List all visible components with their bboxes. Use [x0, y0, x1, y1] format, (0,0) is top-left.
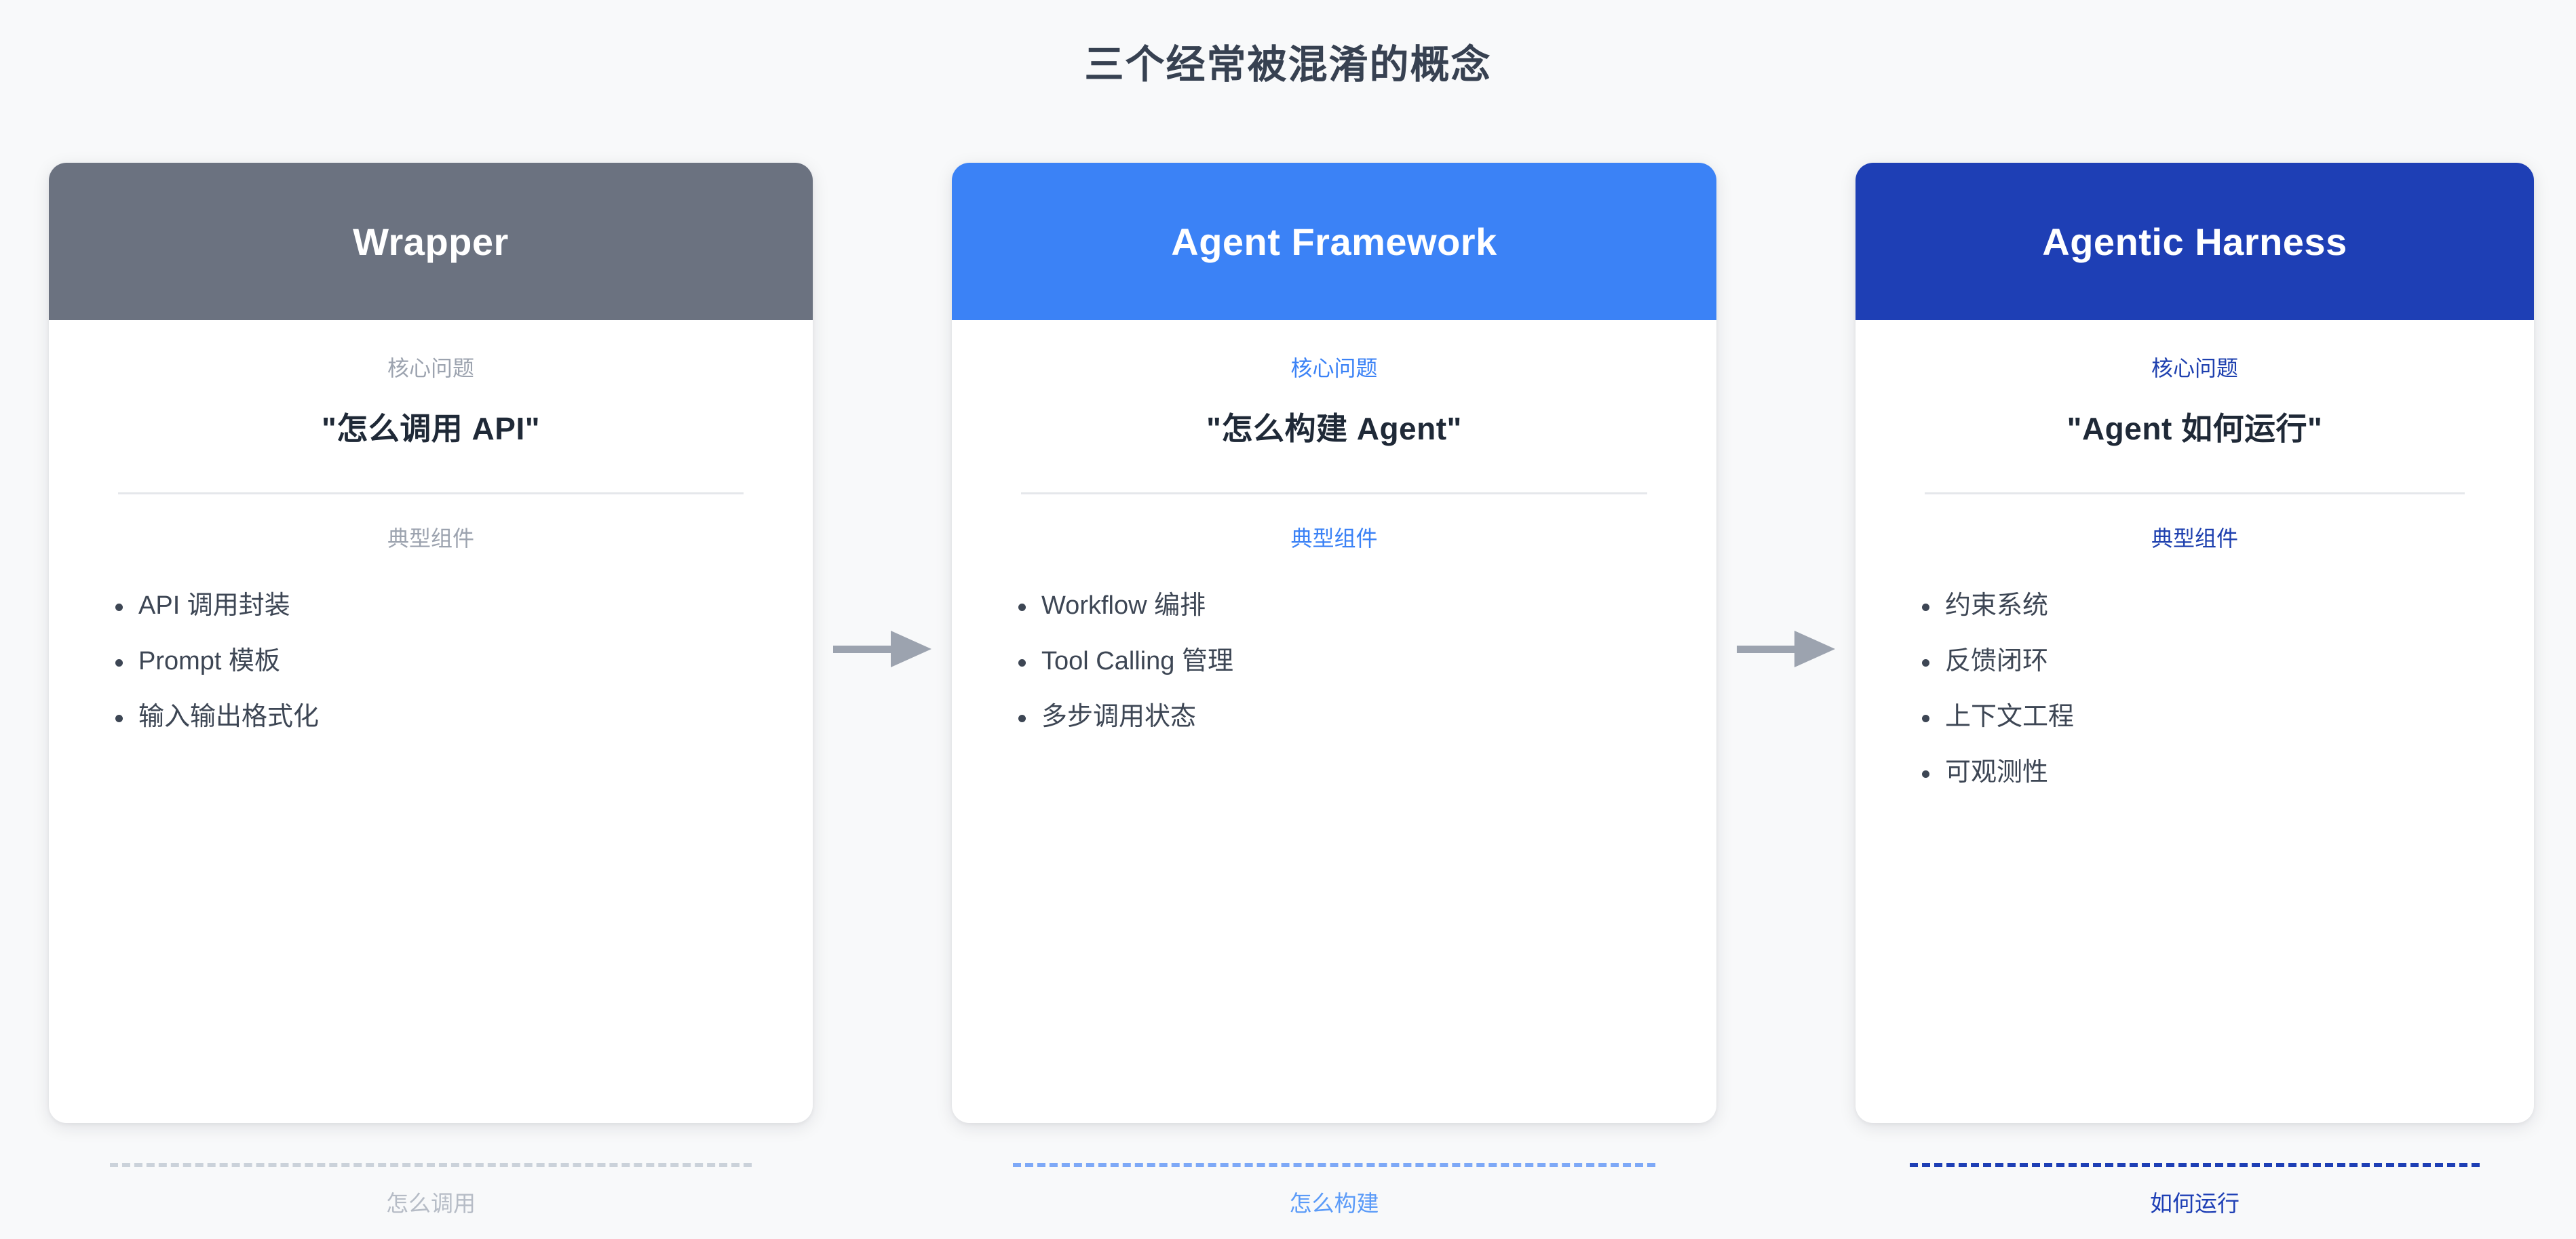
- dashed-connector: [1013, 1163, 1655, 1167]
- list-item: 上下文工程: [1922, 704, 2482, 730]
- list-item: 可观测性: [1922, 760, 2482, 785]
- footer-label: 怎么构建: [1290, 1185, 1379, 1218]
- card-body-wrapper: 核心问题 "怎么调用 API" 典型组件 API 调用封装 Prompt 模板 …: [49, 320, 813, 1123]
- components-label: 典型组件: [1907, 526, 2482, 551]
- card-header-agent-framework: Agent Framework: [952, 163, 1716, 320]
- components-label: 典型组件: [1003, 526, 1665, 551]
- card-column-agentic-harness: Agentic Harness 核心问题 "Agent 如何运行" 典型组件 约…: [1856, 163, 2534, 1123]
- concept-card-wrapper[interactable]: Wrapper 核心问题 "怎么调用 API" 典型组件 API 调用封装 Pr…: [49, 163, 813, 1123]
- core-question-label: 核心问题: [1003, 355, 1665, 381]
- components-label: 典型组件: [100, 526, 761, 551]
- core-question-text: "怎么构建 Agent": [1003, 404, 1665, 449]
- core-question-text: "怎么调用 API": [100, 404, 761, 449]
- core-question-label: 核心问题: [100, 355, 761, 381]
- core-question-label: 核心问题: [1907, 355, 2482, 381]
- footer-agentic-harness: 如何运行: [1856, 1163, 2534, 1218]
- list-item: Tool Calling 管理: [1018, 648, 1665, 674]
- footer-wrapper: 怎么调用: [49, 1163, 813, 1218]
- footer-agent-framework: 怎么构建: [952, 1163, 1716, 1218]
- list-item: API 调用封装: [115, 593, 761, 618]
- arrow-head: [1794, 631, 1835, 667]
- list-item: Workflow 编排: [1018, 593, 1665, 618]
- list-item: 输入输出格式化: [115, 704, 761, 730]
- arrow-right-icon: [1737, 631, 1835, 667]
- components-list: 约束系统 反馈闭环 上下文工程 可观测性: [1907, 593, 2482, 815]
- arrow-column-2: [1716, 163, 1856, 1123]
- list-item: 约束系统: [1922, 593, 2482, 618]
- list-item: 多步调用状态: [1018, 704, 1665, 730]
- list-item: Prompt 模板: [115, 648, 761, 674]
- card-body-agentic-harness: 核心问题 "Agent 如何运行" 典型组件 约束系统 反馈闭环 上下文工程 可…: [1856, 320, 2534, 1123]
- card-column-wrapper: Wrapper 核心问题 "怎么调用 API" 典型组件 API 调用封装 Pr…: [49, 163, 813, 1123]
- concept-cards-board: Wrapper 核心问题 "怎么调用 API" 典型组件 API 调用封装 Pr…: [49, 163, 2534, 1123]
- dashed-connector: [1910, 1163, 2480, 1167]
- card-divider: [1925, 492, 2465, 494]
- dashed-connector: [110, 1163, 752, 1167]
- arrow-right-icon: [833, 631, 931, 667]
- card-header-agentic-harness: Agentic Harness: [1856, 163, 2534, 320]
- components-list: Workflow 编排 Tool Calling 管理 多步调用状态: [1003, 593, 1665, 760]
- concept-card-agent-framework[interactable]: Agent Framework 核心问题 "怎么构建 Agent" 典型组件 W…: [952, 163, 1716, 1123]
- arrow-shaft: [1737, 646, 1798, 653]
- footer-label: 怎么调用: [386, 1185, 476, 1218]
- footer-label: 如何运行: [2150, 1185, 2239, 1218]
- core-question-text: "Agent 如何运行": [1907, 404, 2482, 449]
- card-divider: [1021, 492, 1647, 494]
- components-list: API 调用封装 Prompt 模板 输入输出格式化: [100, 593, 761, 760]
- card-header-wrapper: Wrapper: [49, 163, 813, 320]
- arrow-head: [891, 631, 931, 667]
- card-footers: 怎么调用 怎么构建 如何运行: [49, 1163, 2534, 1239]
- arrow-shaft: [833, 646, 894, 653]
- list-item: 反馈闭环: [1922, 648, 2482, 674]
- arrow-column-1: [813, 163, 952, 1123]
- card-body-agent-framework: 核心问题 "怎么构建 Agent" 典型组件 Workflow 编排 Tool …: [952, 320, 1716, 1123]
- card-divider: [118, 492, 744, 494]
- concept-card-agentic-harness[interactable]: Agentic Harness 核心问题 "Agent 如何运行" 典型组件 约…: [1856, 163, 2534, 1123]
- page-title: 三个经常被混淆的概念: [0, 33, 2576, 90]
- card-column-agent-framework: Agent Framework 核心问题 "怎么构建 Agent" 典型组件 W…: [952, 163, 1716, 1123]
